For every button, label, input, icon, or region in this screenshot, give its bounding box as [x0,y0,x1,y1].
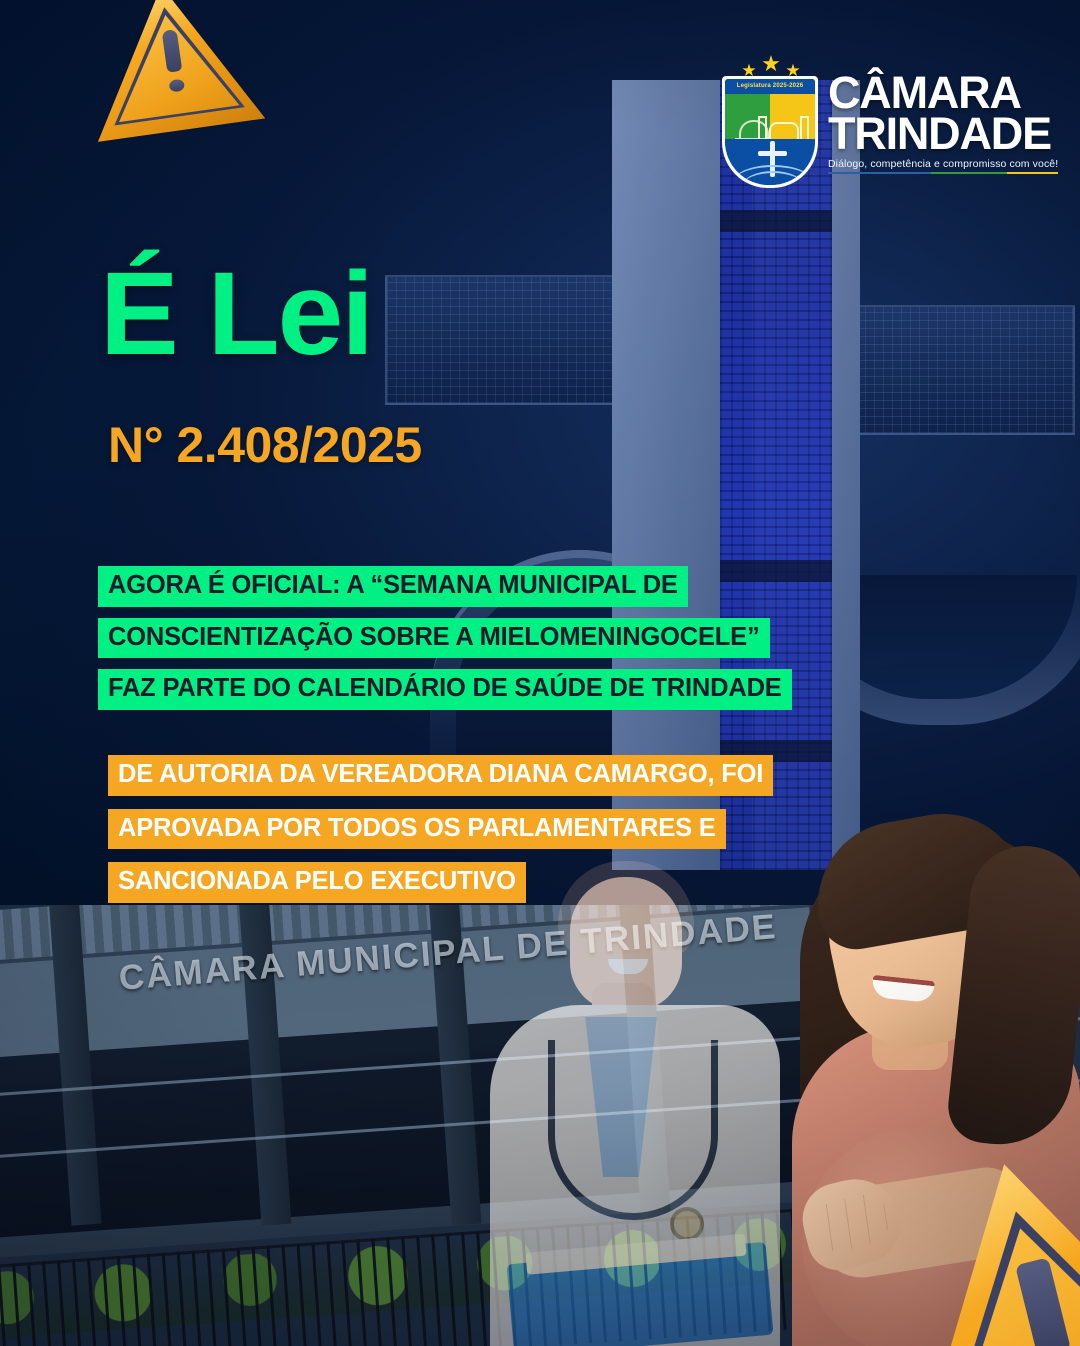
crest-legislature-banner: Legislatura 2025-2026 [725,79,815,94]
crest-shield: Legislatura 2025-2026 [722,76,818,188]
warning-triangle-icon [74,0,271,153]
camara-trindade-logo: ★ ★ ★ Legislatura 2025-2026 [722,52,1022,187]
congress-wing-right [845,305,1075,435]
tagline-part-3: com você! [1007,158,1059,174]
stethoscope-icon [548,1040,718,1220]
stethoscope-chestpiece-icon [670,1207,704,1241]
green-highlight-block: AGORA É OFICIAL: A “SEMANA MUNICIPAL DE … [98,566,792,710]
clipboard-icon [506,1242,773,1346]
logo-tagline: Diálogo, competência e compromisso com v… [828,158,1024,170]
cross-icon-horizontal [758,151,787,156]
orange-line-1: DE AUTORIA DA VEREADORA DIANA CAMARGO, F… [108,755,773,796]
law-number-label: N° 2.408/2025 [108,420,422,470]
logo-line-camara: CÂMARA [828,72,1024,113]
doctor-photo [470,855,800,1346]
congress-band-1 [720,210,832,232]
orange-highlight-block: DE AUTORIA DA VEREADORA DIANA CAMARGO, F… [108,755,773,903]
green-line-3: FAZ PARTE DO CALENDÁRIO DE SAÚDE DE TRIN… [98,669,792,710]
coat-of-arms-crest: ★ ★ ★ Legislatura 2025-2026 [722,76,818,188]
tagline-part-1: Diálogo, competência [828,158,931,174]
star-icon-middle: ★ [761,53,781,75]
congress-wing-left [385,275,615,405]
crest-interior: Legislatura 2025-2026 [725,79,815,185]
tagline-part-2: e compromisso [931,158,1007,174]
congress-tower-left [612,80,720,870]
orange-line-2: APROVADA POR TODOS OS PARLAMENTARES E [108,809,726,850]
green-line-2: CONSCIENTIZAÇÃO SOBRE A MIELOMENINGOCELE… [98,618,770,659]
crest-quadrant-yellow [770,94,815,139]
poster-canvas: CÂMARA MUNICIPAL DE TRINDADE [0,0,1080,1346]
page-title-e-lei: É Lei [100,255,372,373]
green-line-1: AGORA É OFICIAL: A “SEMANA MUNICIPAL DE [98,566,688,607]
orange-line-3: SANCIONADA PELO EXECUTIVO [108,862,526,903]
logo-wordmark: CÂMARA TRINDADE Diálogo, competência e c… [828,72,1024,170]
logo-line-trindade: TRINDADE [828,113,1024,154]
